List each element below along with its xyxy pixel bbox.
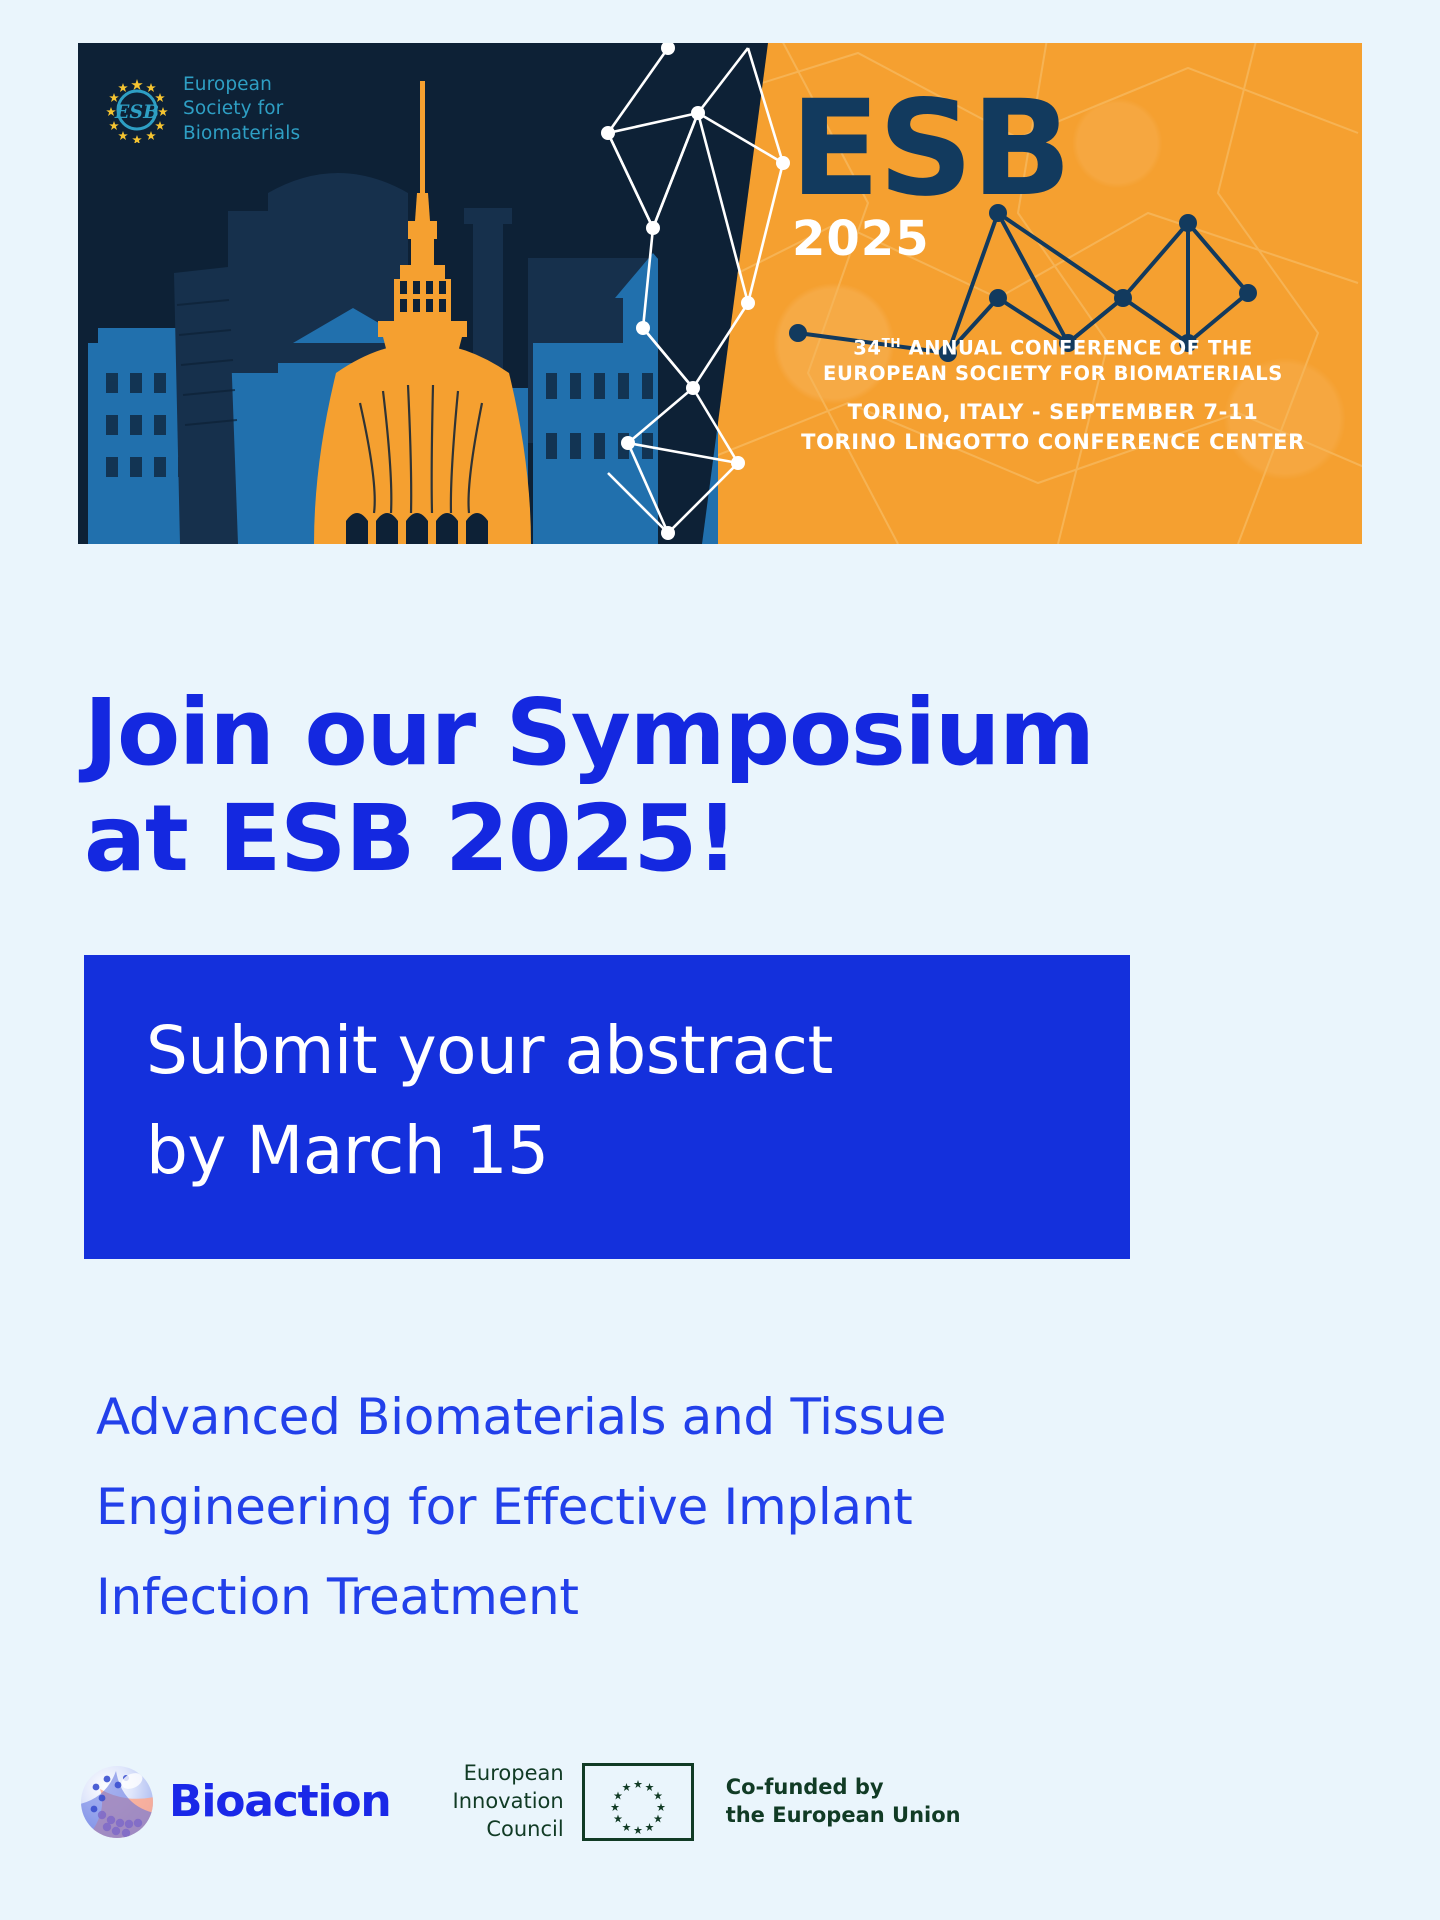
- eic-line-3: Council: [453, 1816, 564, 1844]
- page-title-line-1: Join our Symposium: [84, 679, 1094, 786]
- abstract-deadline-callout: Submit your abstract by March 15: [84, 955, 1130, 1259]
- symposium-title-line-1: Advanced Biomaterials and Tissue: [96, 1372, 1216, 1462]
- svg-text:ESB: ESB: [114, 101, 159, 123]
- esb-name-line-3: Biomaterials: [183, 122, 300, 146]
- page-title: Join our Symposium at ESB 2025!: [84, 680, 1264, 893]
- cofunded-line-2: the European Union: [726, 1802, 961, 1830]
- esb-circle-stars-icon: ESB: [104, 77, 170, 143]
- eic-line-1: European: [453, 1760, 564, 1788]
- eic-wordmark: European Innovation Council: [453, 1760, 564, 1844]
- esb-society-name: European Society for Biomaterials: [183, 73, 300, 146]
- abstract-deadline-line-1: Submit your abstract: [146, 1001, 1130, 1101]
- banner-conference-line-2: EUROPEAN SOCIETY FOR BIOMATERIALS: [773, 361, 1333, 387]
- banner-conference-details: 34TH ANNUAL CONFERENCE OF THE EUROPEAN S…: [773, 335, 1333, 457]
- cofunded-wordmark: Co-funded by the European Union: [726, 1774, 961, 1830]
- esb-acronym-logo: ESB: [790, 83, 1070, 215]
- esb-year-logo: 2025: [792, 211, 930, 267]
- banner-location-line: TORINO, ITALY - SEPTEMBER 7-11: [773, 399, 1333, 427]
- symposium-title: Advanced Biomaterials and Tissue Enginee…: [96, 1372, 1216, 1642]
- eu-funding-logos: European Innovation Council: [453, 1760, 961, 1844]
- banner-venue-line: TORINO LINGOTTO CONFERENCE CENTER: [773, 429, 1333, 457]
- bioaction-wordmark: Bioaction: [169, 1776, 391, 1827]
- eu-flag-icon: [582, 1763, 694, 1841]
- bioaction-cell-icon: [80, 1765, 154, 1839]
- abstract-deadline-text: Submit your abstract by March 15: [146, 1001, 1130, 1202]
- symposium-title-line-2: Engineering for Effective Implant: [96, 1462, 1216, 1552]
- abstract-deadline-line-2: by March 15: [146, 1101, 1130, 1201]
- cofunded-line-1: Co-funded by: [726, 1774, 961, 1802]
- bioaction-logo: Bioaction: [80, 1765, 391, 1839]
- page-title-line-2: at ESB 2025!: [84, 786, 1264, 893]
- symposium-title-line-3: Infection Treatment: [96, 1552, 1216, 1642]
- esb-society-logo: ESB European Society for Biomaterials: [104, 73, 300, 146]
- esb-name-line-1: European: [183, 73, 300, 97]
- banner-conference-line-1: 34TH ANNUAL CONFERENCE OF THE: [773, 335, 1333, 361]
- esb-name-line-2: Society for: [183, 97, 300, 121]
- eu-stars-icon: [585, 1766, 691, 1838]
- eic-line-2: Innovation: [453, 1788, 564, 1816]
- esb-conference-banner: ESB 2025 34TH ANNUAL CONFERENCE OF THE E…: [78, 43, 1362, 544]
- footer-logos: Bioaction European Innovation Council: [80, 1760, 961, 1844]
